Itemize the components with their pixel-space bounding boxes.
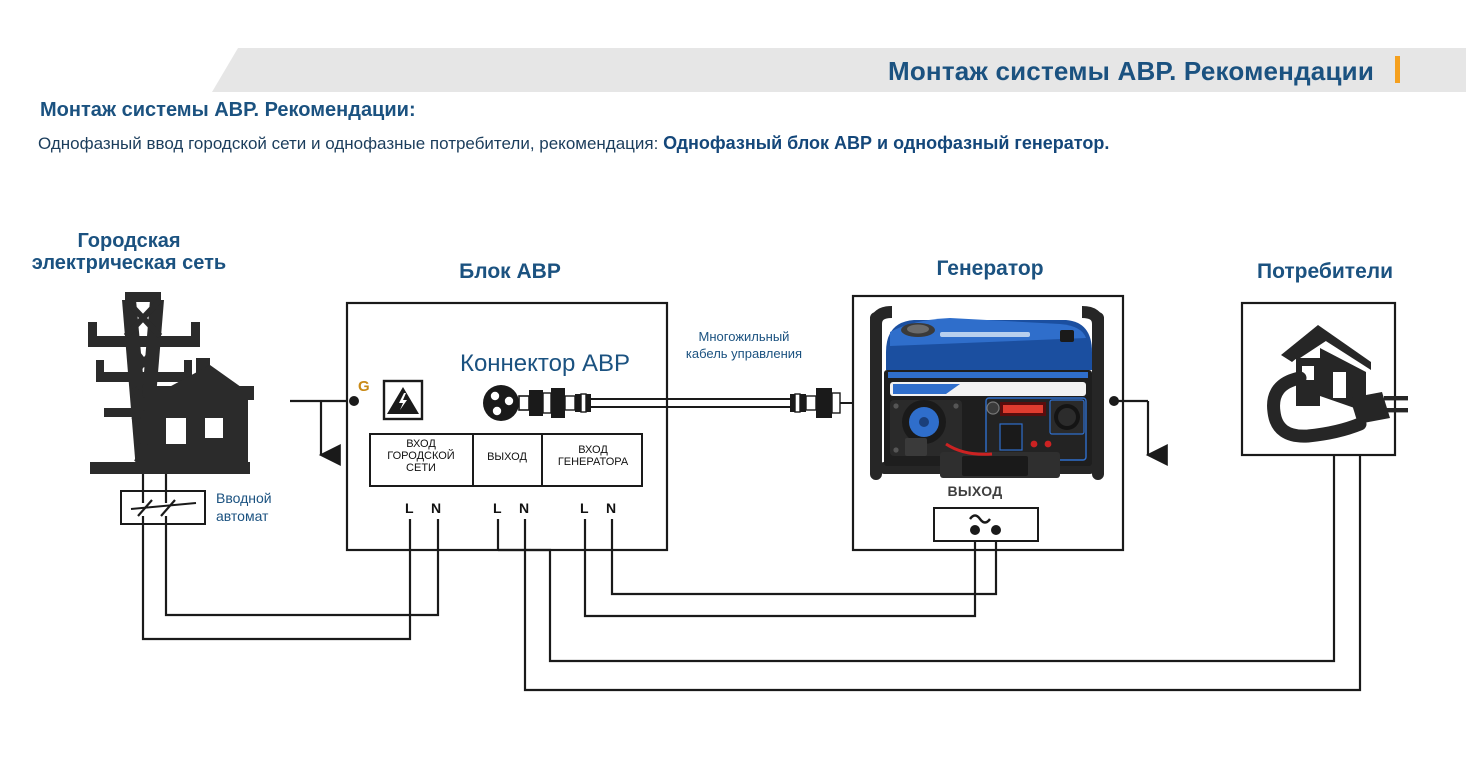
generator-connector-icon <box>790 388 855 418</box>
control-cable-label: Многожильный кабель управления <box>676 328 812 362</box>
generator-output-label: ВЫХОД <box>915 483 1035 499</box>
high-voltage-warning-icon <box>384 381 422 419</box>
abr-connector-title: Коннектор АВР <box>425 350 665 378</box>
abr-block-outline <box>347 303 667 550</box>
abr-port-label-generator-input: ВХОД ГЕНЕРАТОРА <box>545 444 641 468</box>
terminal-label-city-l: L <box>405 500 414 516</box>
wiring-diagram <box>0 0 1466 780</box>
terminal-label-out-l: L <box>493 500 502 516</box>
terminal-label-gen-n: N <box>606 500 616 516</box>
abr-ground-symbol <box>290 401 347 455</box>
abr-port-label-city-input: ВХОД ГОРОДСКОЙ СЕТИ <box>371 438 471 474</box>
input-breaker-label: Вводной автомат <box>216 489 326 525</box>
generator-output-socket <box>934 508 1038 541</box>
input-breaker-symbol <box>121 491 205 524</box>
abr-ground-dot <box>349 396 359 406</box>
terminal-label-gen-l: L <box>580 500 589 516</box>
terminal-label-city-n: N <box>431 500 441 516</box>
abr-ground-letter: G <box>358 378 370 395</box>
abr-port-label-output: ВЫХОД <box>474 451 540 463</box>
grid-drop-wires <box>143 474 166 491</box>
terminal-label-out-n: N <box>519 500 529 516</box>
generator-image <box>876 312 1098 478</box>
